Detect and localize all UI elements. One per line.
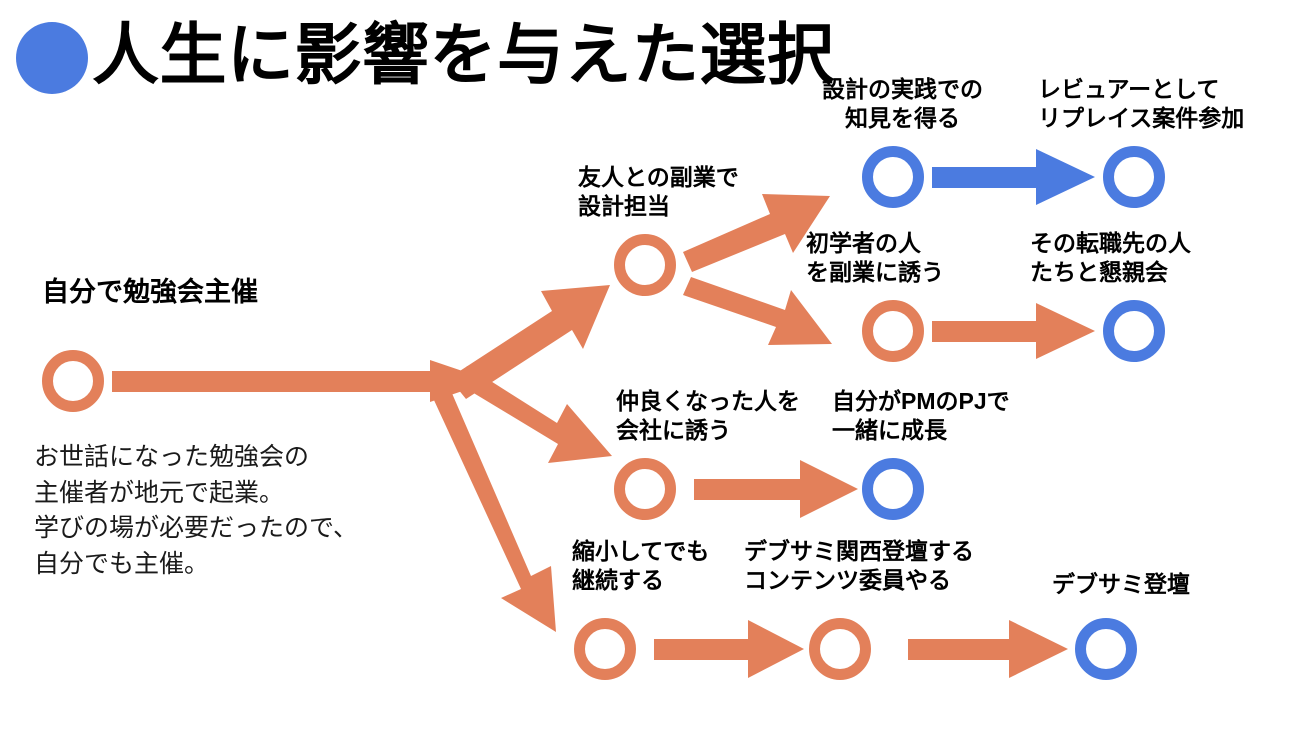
node-label-shogakusha-sasou-line-1: 初学者の人 — [806, 229, 944, 258]
edge-branch-to-kaisha — [457, 366, 612, 463]
node-label-shogakusha-sasou-line-2: を副業に誘う — [806, 258, 944, 287]
edge-chiken-to-reviewer — [932, 149, 1095, 205]
node-label-root: 自分で勉強会主催 — [42, 279, 258, 306]
node-shukushou-keizoku[interactable] — [574, 618, 636, 680]
node-label-kaisha-ni-sasou-line-1: 仲良くなった人を — [616, 387, 800, 416]
node-tenshokusaki-konshinkai[interactable] — [1103, 300, 1165, 362]
node-devsumi-toudan[interactable] — [1075, 618, 1137, 680]
node-label-pm-pj-seichou-line-1: 自分がPMのPJで — [832, 387, 1010, 416]
node-label-devsumi-kansai-iin: デブサミ関西登壇する コンテンツ委員やる — [744, 537, 974, 596]
node-shogakusha-sasou[interactable] — [862, 300, 924, 362]
node-label-shukushou-keizoku-line-2: 継続する — [572, 566, 709, 595]
node-reviewer-replace[interactable] — [1103, 146, 1165, 208]
edge-branch-to-shukushou — [433, 391, 556, 632]
root-description-line-4: 自分でも主催。 — [34, 547, 358, 583]
node-devsumi-kansai-iin[interactable] — [809, 618, 871, 680]
node-label-reviewer-replace-line-1: レビュアーとして — [1038, 75, 1244, 104]
node-label-shogakusha-sasou: 初学者の人 を副業に誘う — [806, 229, 944, 288]
root-description: お世話になった勉強会の 主催者が地元で起業。 学びの場が必要だったので、 自分で… — [34, 440, 358, 582]
node-label-sekkei-chiken: 設計の実践での 知見を得る — [822, 75, 983, 134]
node-label-reviewer-replace-line-2: リプレイス案件参加 — [1038, 104, 1244, 133]
node-sekkei-chiken[interactable] — [862, 146, 924, 208]
node-label-devsumi-toudan-line-1: デブサミ登壇 — [1052, 570, 1190, 599]
edge-kaisha-to-pm — [694, 460, 858, 518]
root-description-line-3: 学びの場が必要だったので、 — [34, 511, 358, 547]
node-label-kaisha-ni-sasou-line-2: 会社に誘う — [616, 416, 800, 445]
node-root[interactable] — [42, 350, 104, 412]
node-label-tenshokusaki-konshinkai-line-1: その転職先の人 — [1030, 229, 1191, 258]
edge-shukushou-to-iin — [654, 620, 804, 678]
node-pm-pj-seichou[interactable] — [862, 458, 924, 520]
node-label-kaisha-ni-sasou: 仲良くなった人を 会社に誘う — [616, 387, 800, 446]
node-kaisha-ni-sasou[interactable] — [614, 458, 676, 520]
node-fukugyou-sekkei[interactable] — [614, 234, 676, 296]
node-label-shukushou-keizoku: 縮小してでも 継続する — [572, 537, 709, 596]
node-label-fukugyou-sekkei-line-1: 友人との副業で — [578, 163, 739, 192]
node-label-devsumi-kansai-iin-line-2: コンテンツ委員やる — [744, 566, 974, 595]
edge-branch-to-fukugyou — [449, 285, 610, 399]
node-label-reviewer-replace: レビュアーとして リプレイス案件参加 — [1038, 75, 1244, 134]
node-label-sekkei-chiken-line-2: 知見を得る — [822, 104, 983, 133]
node-label-fukugyou-sekkei-line-2: 設計担当 — [578, 192, 739, 221]
edge-iin-to-toudan — [908, 620, 1068, 678]
node-label-fukugyou-sekkei: 友人との副業で 設計担当 — [578, 163, 739, 222]
root-description-line-2: 主催者が地元で起業。 — [34, 476, 358, 512]
root-description-line-1: お世話になった勉強会の — [34, 440, 358, 476]
node-label-pm-pj-seichou: 自分がPMのPJで 一緒に成長 — [832, 387, 1010, 446]
node-label-pm-pj-seichou-line-2: 一緒に成長 — [832, 416, 1010, 445]
filled-circle-icon — [16, 22, 88, 94]
node-label-tenshokusaki-konshinkai: その転職先の人 たちと懇親会 — [1030, 229, 1191, 288]
node-label-sekkei-chiken-line-1: 設計の実践での — [822, 75, 983, 104]
node-label-tenshokusaki-konshinkai-line-2: たちと懇親会 — [1030, 258, 1191, 287]
edge-root-to-branch — [112, 360, 492, 402]
edge-shogakusha-to-konshinkai — [932, 303, 1095, 359]
node-label-devsumi-toudan: デブサミ登壇 — [1052, 570, 1190, 599]
slide-canvas: 人生に影響を与えた選択 — [0, 0, 1300, 731]
node-label-devsumi-kansai-iin-line-1: デブサミ関西登壇する — [744, 537, 974, 566]
node-label-shukushou-keizoku-line-1: 縮小してでも — [572, 537, 709, 566]
page-title: 人生に影響を与えた選択 — [92, 22, 835, 89]
